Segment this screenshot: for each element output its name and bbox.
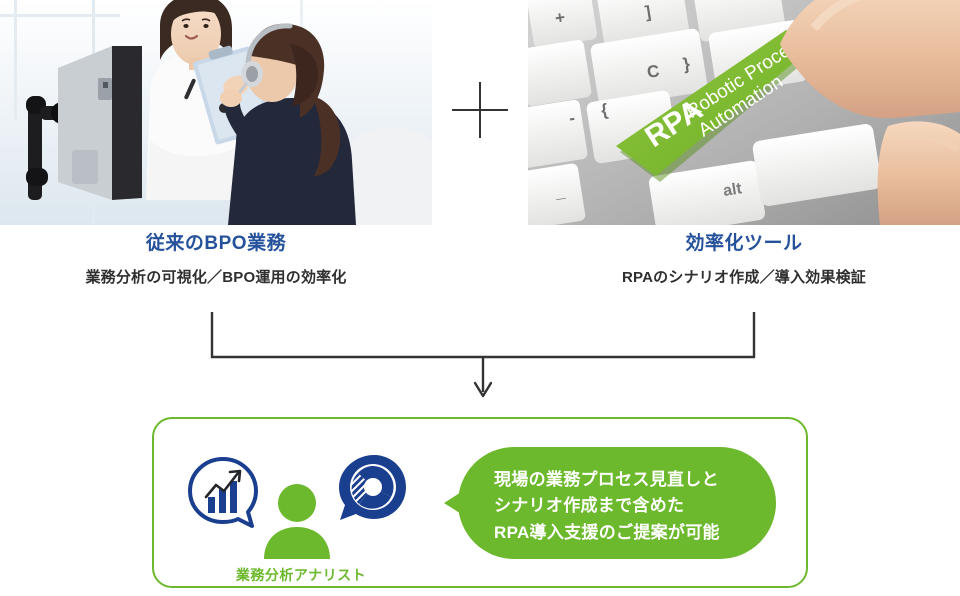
- column-subtitle-left: 業務分析の可視化／BPO運用の効率化: [0, 268, 432, 288]
- bubble-line-1: 現場の業務プロセス見直しと: [494, 467, 764, 493]
- column-caption-left: 従来のBPO業務 業務分析の可視化／BPO運用の効率化: [0, 232, 432, 287]
- plus-icon-vertical: [479, 82, 481, 138]
- column-caption-right: 効率化ツール RPAのシナリオ作成／導入効果検証: [528, 232, 960, 287]
- result-panel: 業務分析アナリスト 現場の業務プロセス見直しと シナリオ作成まで含めた RPA導…: [152, 417, 808, 588]
- bar-chart-speech-icon: [186, 455, 260, 529]
- column-subtitle-right: RPAのシナリオ作成／導入効果検証: [528, 268, 960, 288]
- bpo-office-photo: [0, 0, 432, 225]
- bubble-line-3: RPA導入支援のご提案が可能: [494, 520, 764, 546]
- diagram-canvas: + ] C } - { _ alt ctrl RPA Robotic Proce…: [0, 0, 960, 596]
- result-speech-bubble: 現場の業務プロセス見直しと シナリオ作成まで含めた RPA導入支援のご提案が可能: [444, 447, 776, 559]
- bubble-line-2: シナリオ作成まで含めた: [494, 493, 764, 519]
- speech-bubble-text: 現場の業務プロセス見直しと シナリオ作成まで含めた RPA導入支援のご提案が可能: [494, 467, 764, 546]
- key-alt-label: alt: [722, 180, 744, 200]
- column-title-right: 効率化ツール: [528, 232, 960, 257]
- plus-icon: [452, 82, 508, 138]
- pie-chart-speech-icon: [334, 451, 408, 525]
- flow-connector: [200, 312, 766, 404]
- analyst-label: 業務分析アナリスト: [186, 565, 416, 585]
- bpo-office-illustration: [0, 0, 432, 225]
- rpa-keyboard-photo: + ] C } - { _ alt ctrl RPA Robotic Proce…: [528, 0, 960, 225]
- rpa-keyboard-illustration: + ] C } - { _ alt ctrl RPA Robotic Proce…: [528, 0, 960, 225]
- analyst-icon-group: 業務分析アナリスト: [186, 449, 416, 579]
- person-icon: [258, 481, 336, 559]
- column-title-left: 従来のBPO業務: [0, 232, 432, 257]
- flow-connector-arrow: [200, 312, 766, 404]
